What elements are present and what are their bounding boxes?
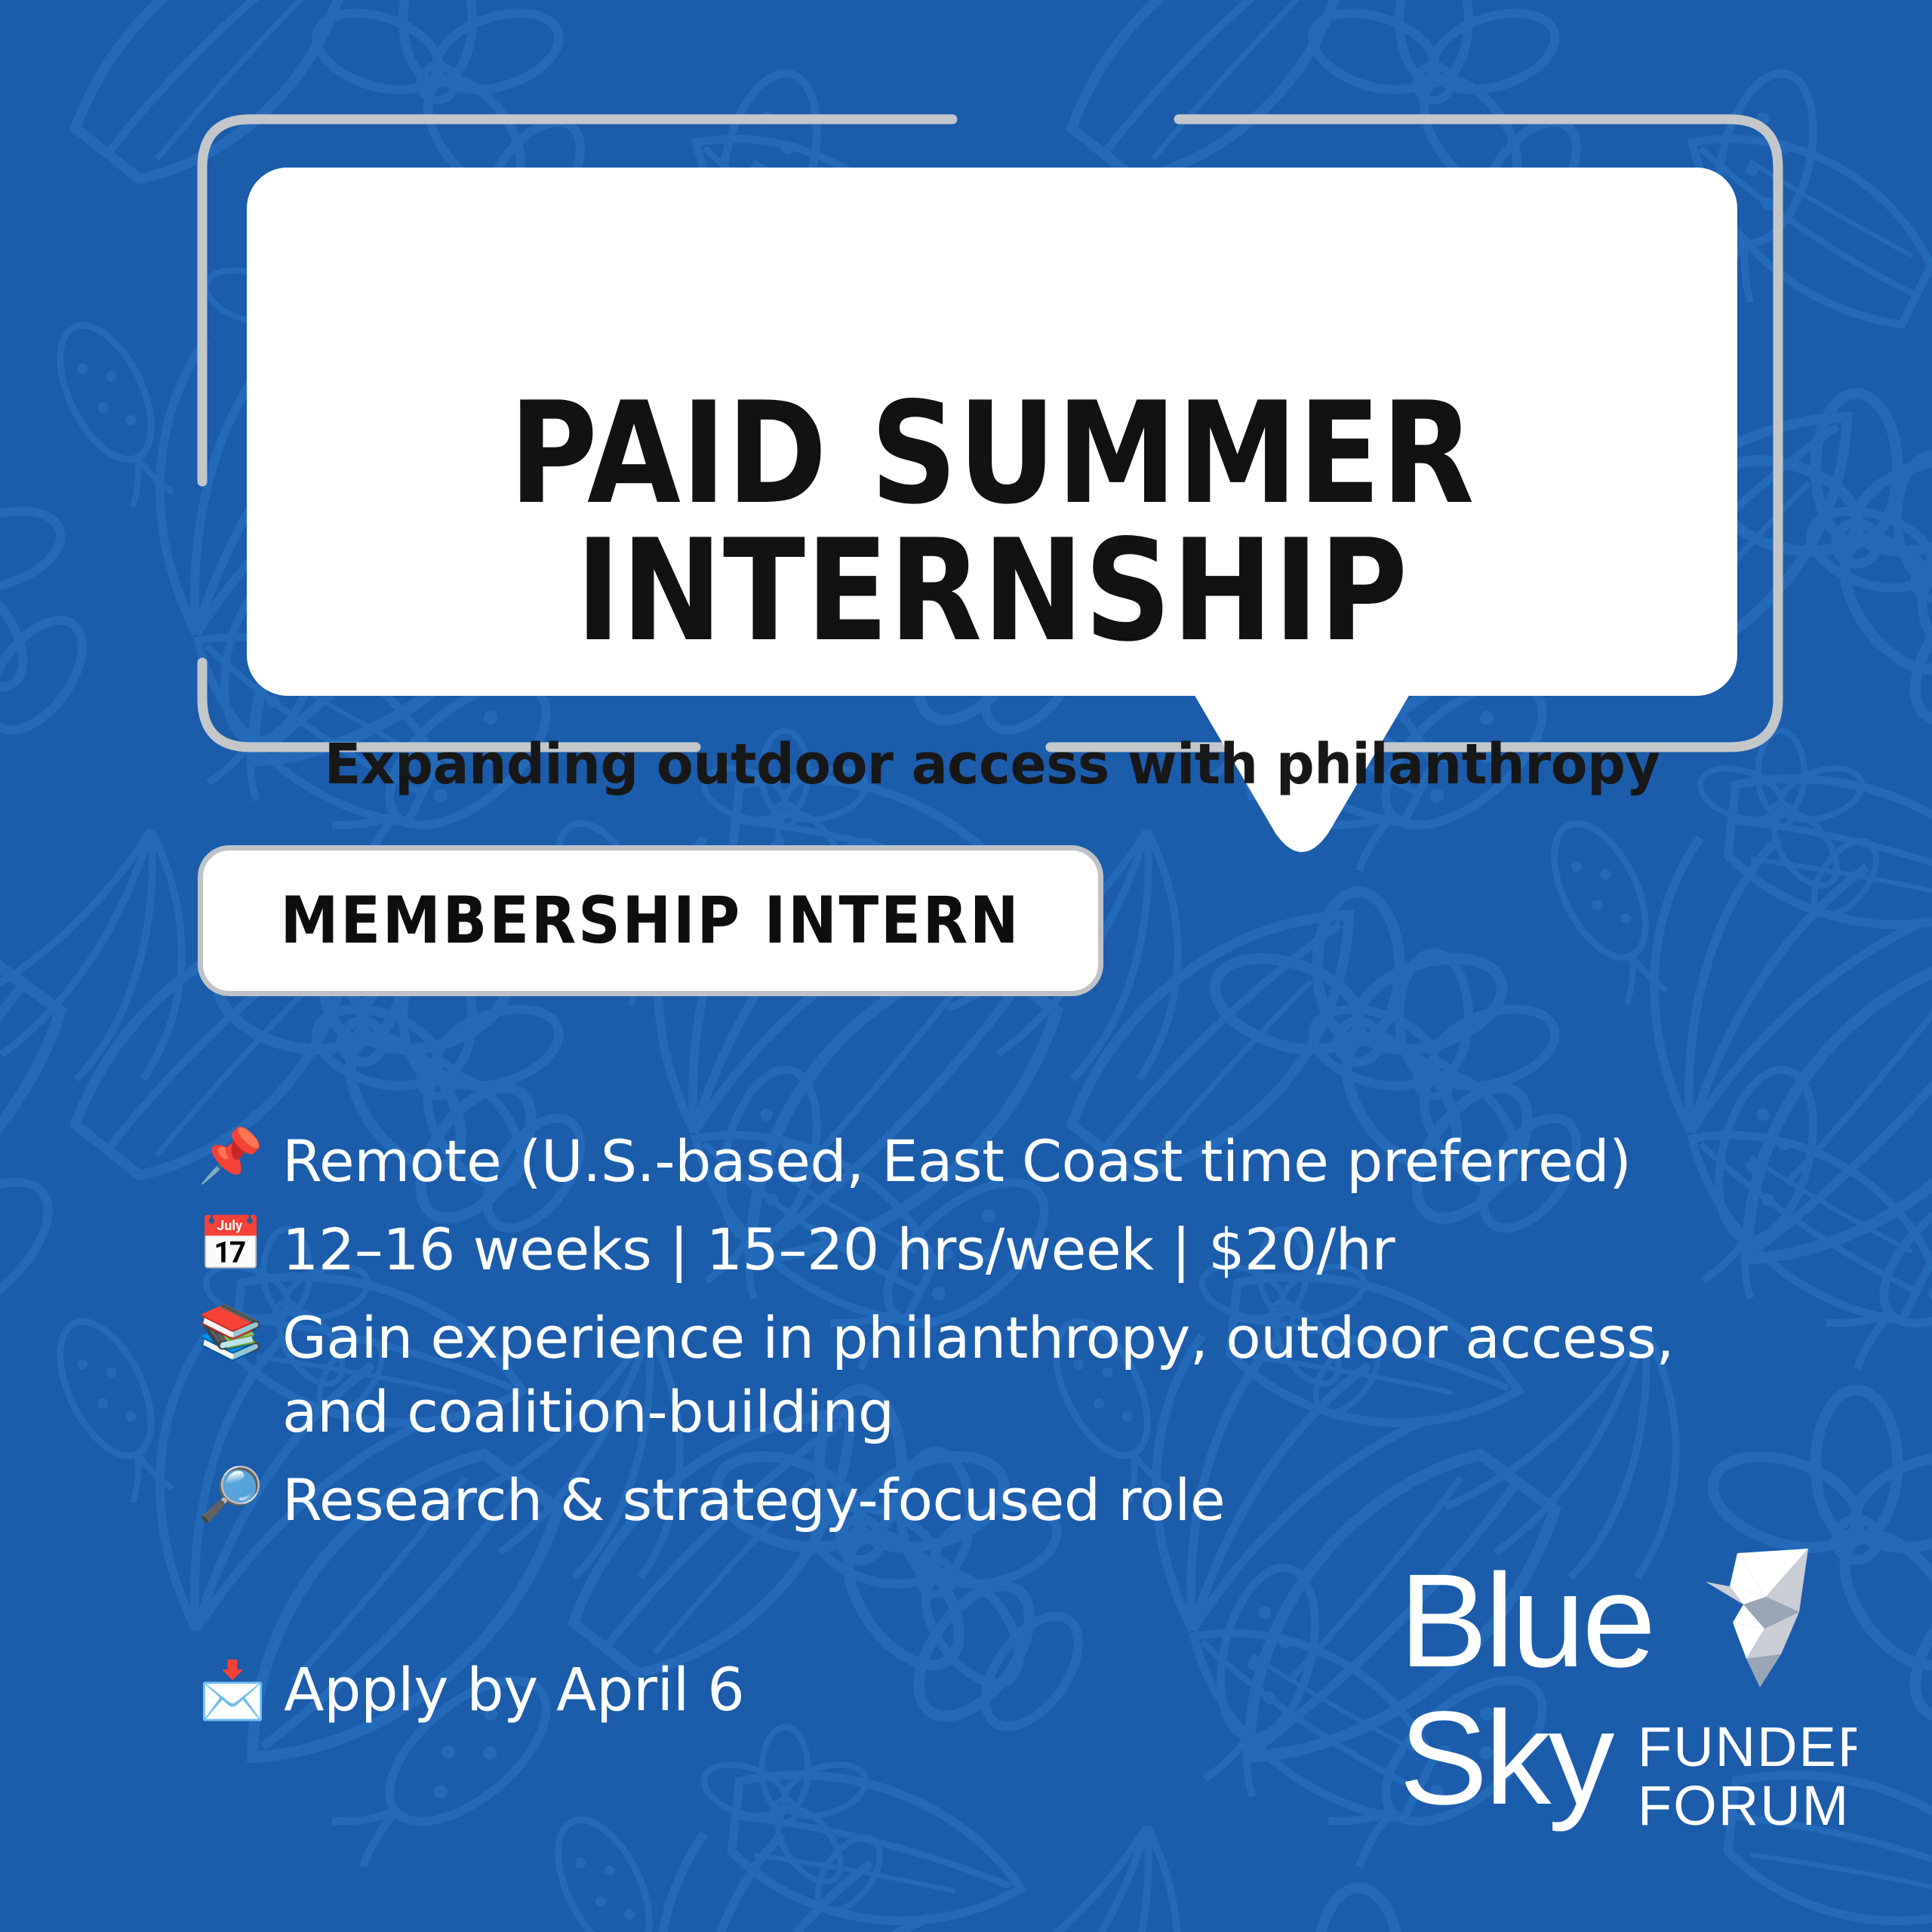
apply-deadline: 📩 Apply by April 6 <box>198 1657 744 1724</box>
page-subtitle: Expanding outdoor access with philanthro… <box>277 732 1708 797</box>
books-icon: 📚 <box>198 1301 282 1358</box>
poster-canvas: PAID SUMMER INTERNSHIP Expanding outdoor… <box>0 0 1932 1932</box>
pushpin-icon: 📌 <box>198 1124 282 1182</box>
list-item-text: Remote (U.S.-based, East Coast time pref… <box>282 1124 1631 1199</box>
apply-deadline-text: Apply by April 6 <box>284 1657 744 1724</box>
list-item: 🔎 Research & strategy-focused role <box>198 1463 1752 1538</box>
origami-bird-icon <box>1706 1549 1808 1687</box>
list-item-text: 12–16 weeks | 15–20 hrs/week | $20/hr <box>282 1213 1395 1287</box>
details-list: 📌 Remote (U.S.-based, East Coast time pr… <box>198 1124 1752 1552</box>
logo-word-sky: Sky <box>1399 1684 1614 1832</box>
list-item: 📅 12–16 weeks | 15–20 hrs/week | $20/hr <box>198 1213 1752 1287</box>
magnifying-glass-icon: 🔎 <box>198 1463 282 1521</box>
list-item: 📚 Gain experience in philanthropy, outdo… <box>198 1301 1752 1451</box>
page-title: PAID SUMMER INTERNSHIP <box>351 385 1633 660</box>
list-item-text: Research & strategy-focused role <box>282 1463 1225 1538</box>
blue-sky-funders-forum-logo: Blue Sky FUNDERS FORUM <box>1389 1540 1857 1879</box>
logo-tagline-funders: FUNDERS <box>1638 1715 1857 1778</box>
list-item-text: Gain experience in philanthropy, outdoor… <box>282 1301 1701 1451</box>
calendar-icon: 📅 <box>198 1213 282 1270</box>
logo-tagline-forum: FORUM <box>1638 1774 1850 1837</box>
headline-card: PAID SUMMER INTERNSHIP Expanding outdoor… <box>247 168 1737 696</box>
inbox-envelope-icon: 📩 <box>198 1663 267 1718</box>
role-badge: MEMBERSHIP INTERN <box>198 845 1103 996</box>
logo-word-blue: Blue <box>1399 1547 1653 1695</box>
list-item: 📌 Remote (U.S.-based, East Coast time pr… <box>198 1124 1752 1199</box>
role-badge-label: MEMBERSHIP INTERN <box>281 883 1021 958</box>
